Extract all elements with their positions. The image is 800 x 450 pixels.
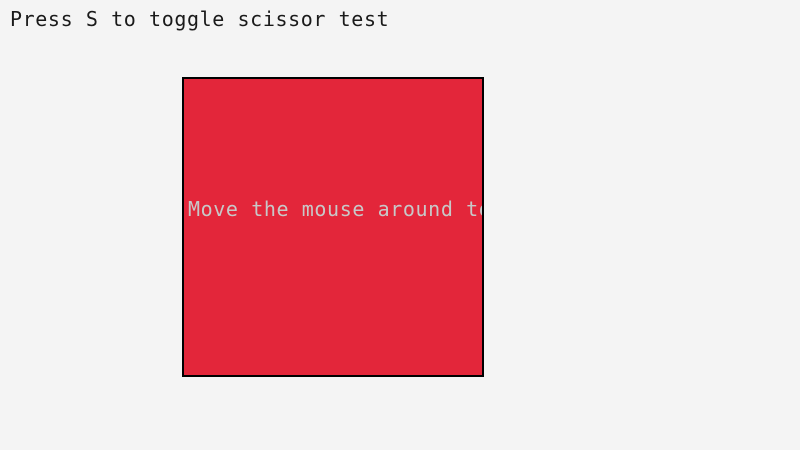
scissor-test-canvas[interactable]: Press S to toggle scissor test Move the … <box>0 0 800 450</box>
scissor-region[interactable]: Move the mouse around to r <box>182 77 484 377</box>
scissor-clipped-message: Move the mouse around to r <box>188 198 484 220</box>
scissor-toggle-hint: Press S to toggle scissor test <box>10 8 389 30</box>
